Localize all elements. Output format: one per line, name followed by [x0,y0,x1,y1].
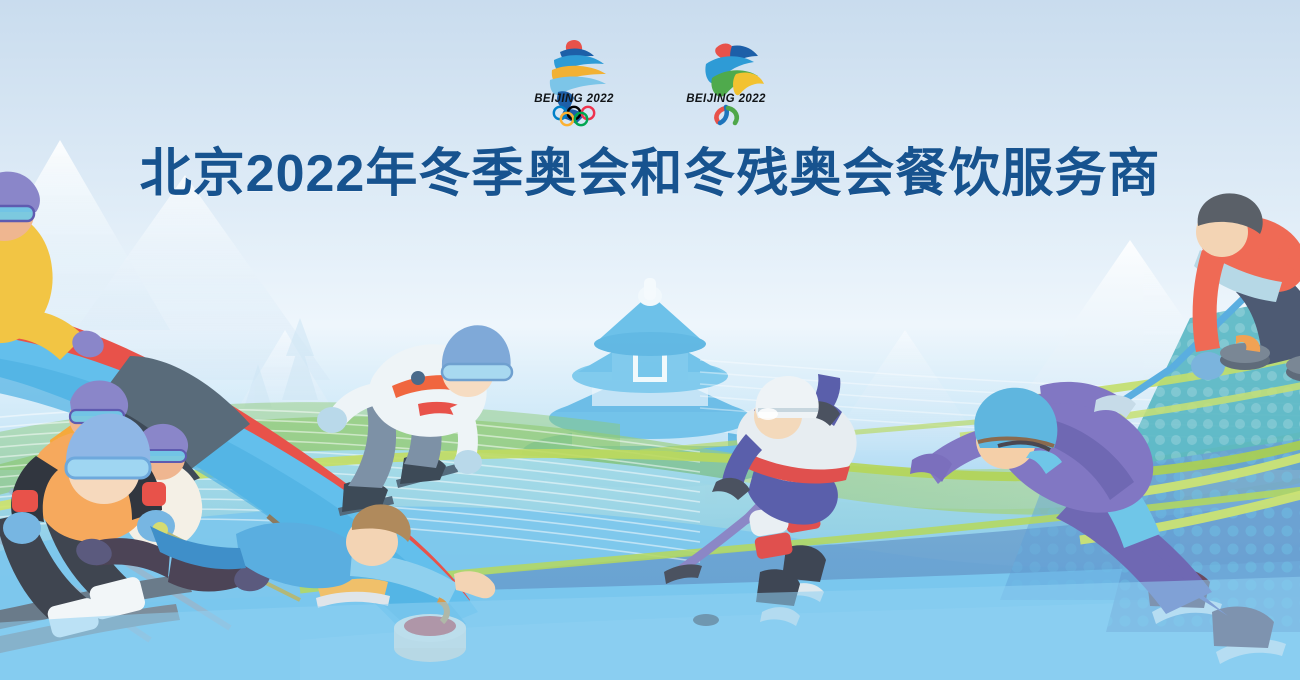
leap-forward-symbol [705,44,764,97]
paralympic-emblem: BEIJING 2022 [676,30,776,130]
paralympic-wordmark: BEIJING 2022 [686,93,766,105]
paralympic-emblem-svg: BEIJING 2022 [676,30,776,130]
page-title: 北京2022年冬季奥会和冬残奥会餐饮服务商 [0,144,1300,204]
emblem-row: BEIJING 2022 [0,30,1300,130]
olympic-emblem: BEIJING 2022 [524,30,624,130]
winter-dream-symbol [550,40,606,124]
olympic-wordmark: BEIJING 2022 [534,93,614,105]
olympic-emblem-svg: BEIJING 2022 [524,30,624,130]
agitos-icon [716,107,736,123]
olympic-banner: BEIJING 2022 [0,0,1300,680]
